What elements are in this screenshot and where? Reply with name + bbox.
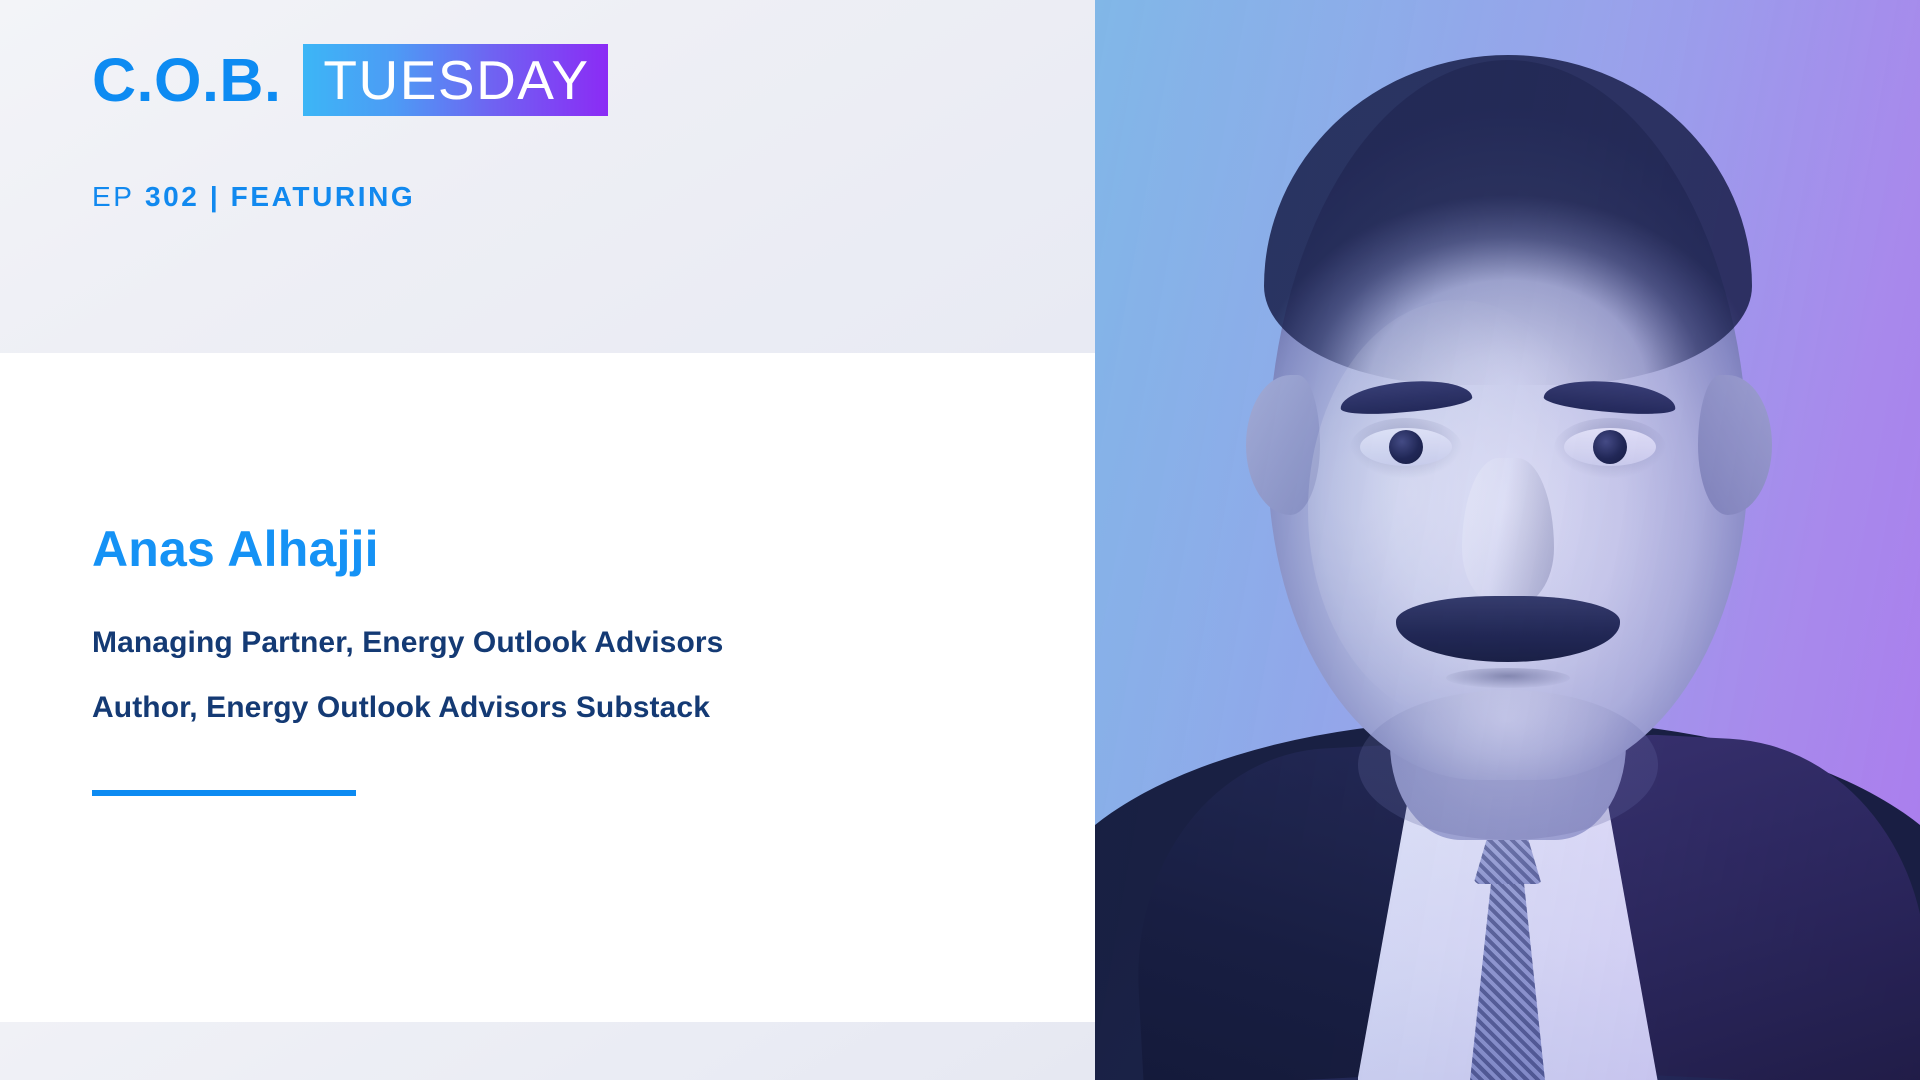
episode-prefix: EP xyxy=(92,181,135,212)
portrait-mouth xyxy=(1446,668,1570,688)
accent-underline-rule xyxy=(92,790,356,796)
episode-line: EP 302 | FEATURING xyxy=(92,183,415,211)
guest-role-line-1: Managing Partner, Energy Outlook Advisor… xyxy=(92,625,723,661)
portrait-eye-right xyxy=(1564,428,1656,466)
portrait-pupil-right xyxy=(1593,430,1627,464)
footer-band xyxy=(0,1022,1095,1080)
portrait-pupil-left xyxy=(1389,430,1423,464)
portrait-ear-right xyxy=(1698,375,1772,515)
logo-secondary-text: TUESDAY xyxy=(323,53,589,108)
guest-info-card xyxy=(0,353,1095,1022)
episode-title-card: C.O.B. TUESDAY EP 302 | FEATURING Anas A… xyxy=(0,0,1920,1080)
portrait-chin xyxy=(1358,690,1658,840)
guest-photo-panel xyxy=(1095,0,1920,1080)
brand-logo: C.O.B. TUESDAY xyxy=(92,44,608,116)
episode-detail: 302 | FEATURING xyxy=(145,181,415,212)
portrait-nose xyxy=(1462,458,1554,608)
guest-name: Anas Alhajji xyxy=(92,521,379,579)
left-content-panel: C.O.B. TUESDAY EP 302 | FEATURING Anas A… xyxy=(0,0,1095,1080)
logo-primary-text: C.O.B. xyxy=(92,44,281,116)
logo-gradient-box: TUESDAY xyxy=(303,44,607,116)
guest-portrait xyxy=(1095,0,1920,1080)
portrait-eye-left xyxy=(1360,428,1452,466)
guest-role-line-2: Author, Energy Outlook Advisors Substack xyxy=(92,690,710,726)
